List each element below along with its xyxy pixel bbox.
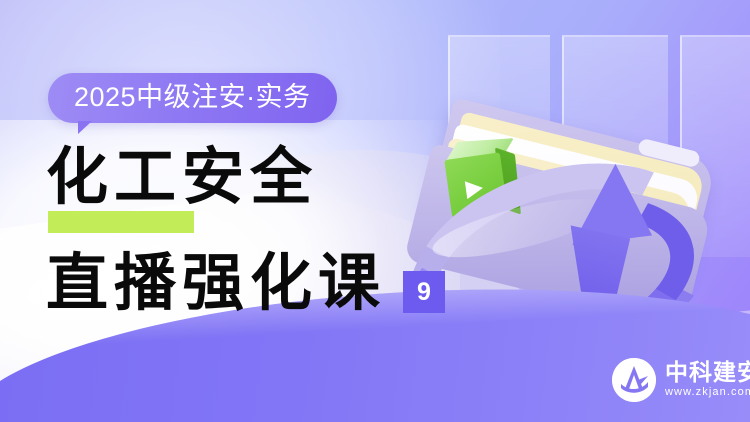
course-category-pill: 2025中级注安·实务 [48,73,337,123]
brand-url: www.zkjan.com [665,386,750,399]
course-poster: 2025中级注安·实务 化工安全 直播强化课 9 中科建安 www.zkjan.… [0,0,750,422]
brand-logo-mark-icon [612,358,656,402]
brand-logo: 中科建安 www.zkjan.com [612,358,750,402]
brand-name: 中科建安 [665,360,750,384]
headline-line-2: 直播强化课 [46,253,386,315]
headline-highlight-bar [48,211,194,233]
course-category-label: 2025中级注安·实务 [74,82,311,112]
episode-number-badge: 9 [403,271,445,313]
course-category-badge: 2025中级注安·实务 [48,73,337,123]
headline-line-1: 化工安全 [46,147,318,209]
brand-logo-text: 中科建安 www.zkjan.com [665,360,750,399]
pill-tail-icon [78,121,92,134]
